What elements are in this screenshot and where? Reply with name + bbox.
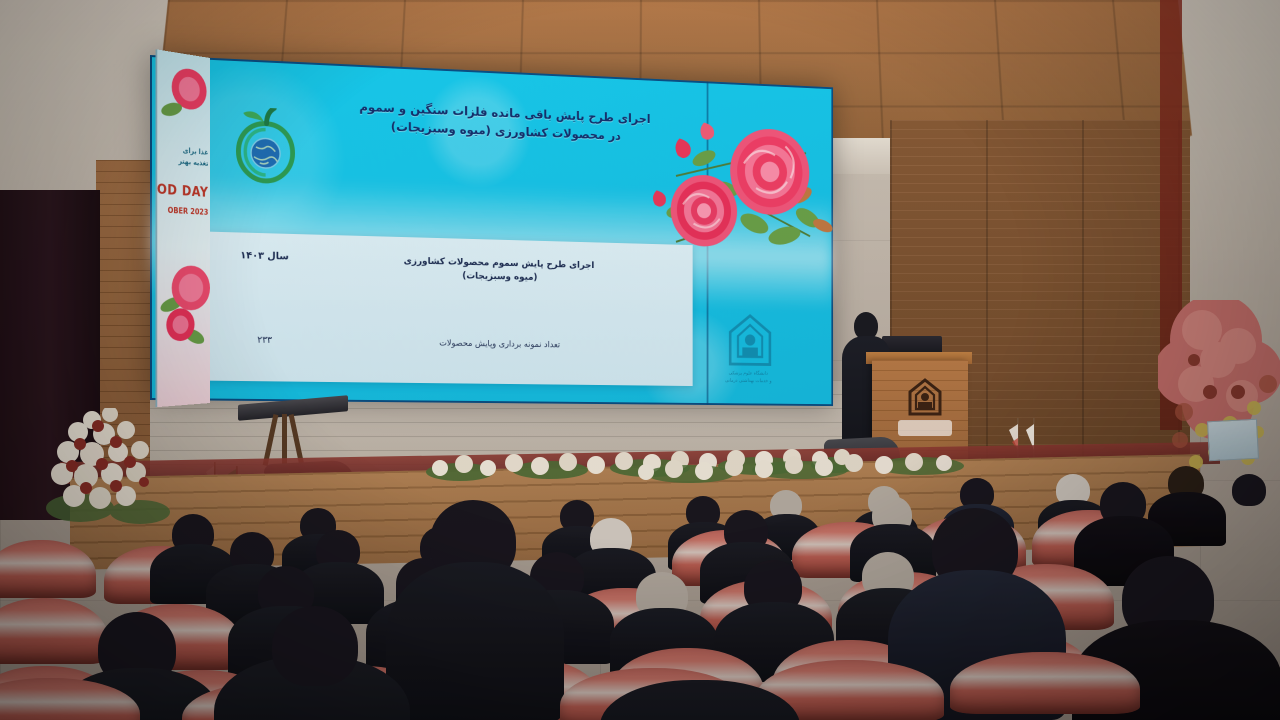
table-row-value: ۲۳۳ (191, 334, 336, 347)
university-emblem-text: دانشگاه علوم پزشکی و خدمات بهداشتی درمان… (701, 370, 796, 385)
banner-rose-decoration-top (159, 58, 210, 137)
table-row: اجرای طرح پایش سموم محصولات کشاورزی (میو… (191, 249, 692, 289)
table-row-label-line1: تعداد نمونه برداری وپایش محصولات (337, 336, 658, 354)
banner-date-text: OBER 2023 (155, 204, 208, 217)
audience-head-foreground (272, 606, 358, 686)
world-food-day-banner: غذا برای تغذیه بهتر OD DAY OBER 2023 (155, 49, 210, 407)
podium-emblem-icon (906, 378, 944, 418)
university-emblem-icon (723, 311, 777, 373)
audience-shoulders-foreground (386, 562, 564, 720)
audience-head (1232, 474, 1266, 506)
apple-globe-logo (227, 106, 304, 190)
auditorium-chair (0, 598, 108, 664)
banner-rose-decoration (155, 253, 210, 378)
banner-farsi-text: غذا برای تغذیه بهتر (155, 142, 208, 171)
banner-english-text: OD DAY (155, 181, 208, 200)
led-video-wall: اجرای طرح پایش باقی مانده فلزات سنگین و … (150, 55, 833, 406)
photo-scene: اجرای طرح پایش باقی مانده فلزات سنگین و … (0, 0, 1280, 720)
table-row-value: سال ۱۴۰۳ (191, 249, 336, 264)
emblem-text-line2: و خدمات بهداشتی درمانی (701, 377, 796, 385)
table-row: تعداد نمونه برداری وپایش محصولات ۲۳۳ (191, 334, 692, 355)
slide-data-table: اجرای طرح پایش سموم محصولات کشاورزی (میو… (191, 231, 692, 386)
table-row-label: اجرای طرح پایش سموم محصولات کشاورزی (میو… (337, 253, 693, 289)
table-row-label: تعداد نمونه برداری وپایش محصولات (337, 336, 693, 354)
auditorium-chair (0, 540, 96, 598)
audience-area (0, 430, 1280, 720)
auditorium-chair (950, 652, 1140, 714)
